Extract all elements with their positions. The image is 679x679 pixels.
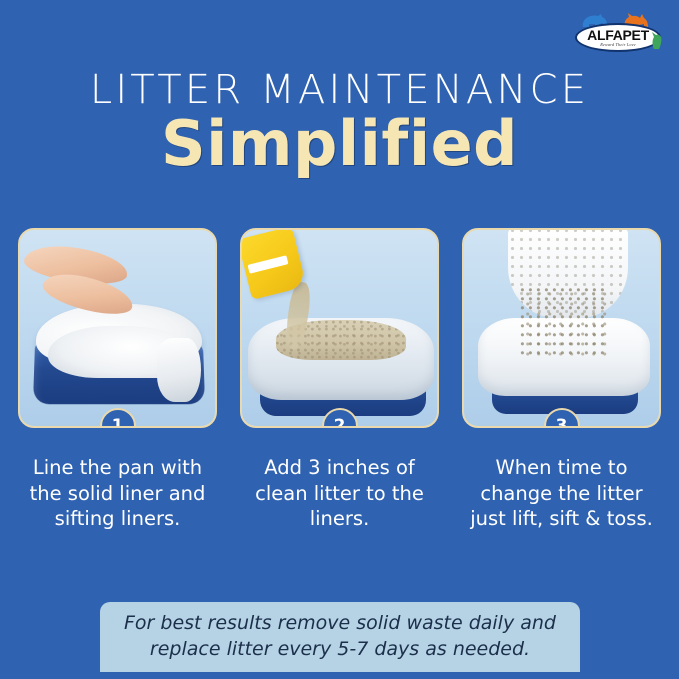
cat-green-icon (649, 28, 663, 50)
page-title-line1: LITTER MAINTENANCE (0, 70, 679, 110)
brand-logo[interactable]: ALFAPET Reward Their Love (575, 12, 661, 56)
step-3-illustration (464, 230, 659, 426)
liner-drape-icon (157, 338, 201, 402)
step-caption-3: When time to change the litter just lift… (462, 455, 661, 532)
step-captions: Line the pan with the solid liner and si… (18, 455, 661, 532)
falling-litter-icon (520, 288, 608, 360)
logo-tagline: Reward Their Love (600, 43, 636, 47)
step-caption-2: Add 3 inches of clean litter to the line… (240, 455, 439, 532)
step-1-illustration (20, 230, 215, 426)
step-panel-2: 2 (240, 228, 439, 428)
step-caption-1: Line the pan with the solid liner and si… (18, 455, 217, 532)
page-title-line2: Simplified (0, 110, 679, 178)
footer-note: For best results remove solid waste dail… (100, 602, 580, 672)
step-panels: 1 2 3 (18, 228, 661, 428)
litter-maintenance-infographic: ALFAPET Reward Their Love LITTER MAINTEN… (0, 0, 679, 679)
logo-wordmark: ALFAPET (587, 28, 649, 42)
step-panel-1: 1 (18, 228, 217, 428)
step-panel-3: 3 (462, 228, 661, 428)
step-2-illustration (242, 230, 437, 426)
